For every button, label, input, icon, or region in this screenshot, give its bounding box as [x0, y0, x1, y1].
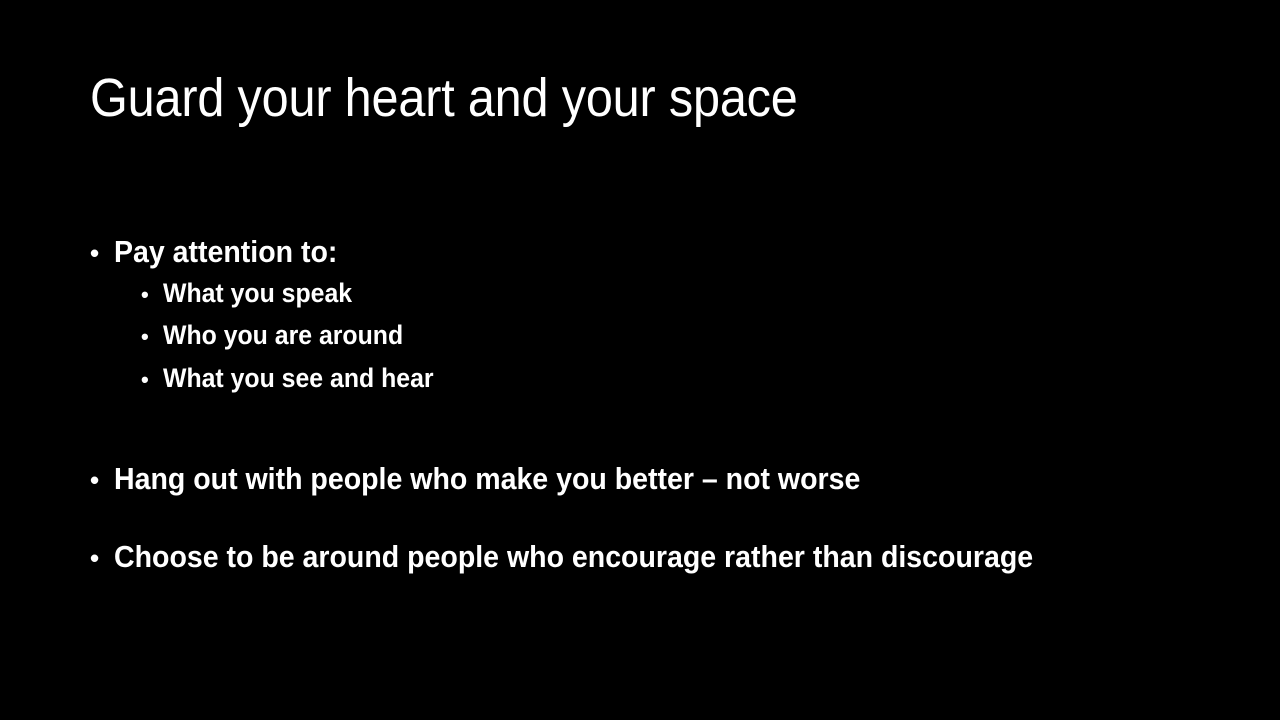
blank-line [90, 399, 1210, 459]
slide-title: Guard your heart and your space [90, 68, 1080, 128]
bullet-item-level1: • Pay attention to: [90, 232, 1210, 272]
bullet-dot-icon: • [90, 240, 114, 266]
presentation-slide: Guard your heart and your space • Pay at… [0, 0, 1280, 720]
blank-line [90, 499, 1210, 537]
bullet-item-level1: • Choose to be around people who encoura… [90, 537, 1210, 577]
bullet-text: Hang out with people who make you better… [114, 459, 860, 499]
bullet-item-level2: • Who you are around [141, 314, 1210, 356]
bullet-text: Choose to be around people who encourage… [114, 537, 1033, 577]
bullet-dot-icon: • [141, 326, 163, 348]
bullet-dot-icon: • [90, 467, 114, 493]
bullet-dot-icon: • [141, 369, 163, 391]
slide-body: • Pay attention to: • What you speak • W… [90, 232, 1210, 577]
bullet-text: What you see and hear [163, 357, 434, 399]
bullet-text: Who you are around [163, 314, 403, 356]
bullet-text: Pay attention to: [114, 232, 337, 272]
bullet-item-level1: • Hang out with people who make you bett… [90, 459, 1210, 499]
bullet-dot-icon: • [90, 545, 114, 571]
bullet-item-level2: • What you see and hear [141, 357, 1210, 399]
bullet-text: What you speak [163, 272, 352, 314]
bullet-item-level2: • What you speak [141, 272, 1210, 314]
bullet-dot-icon: • [141, 284, 163, 306]
